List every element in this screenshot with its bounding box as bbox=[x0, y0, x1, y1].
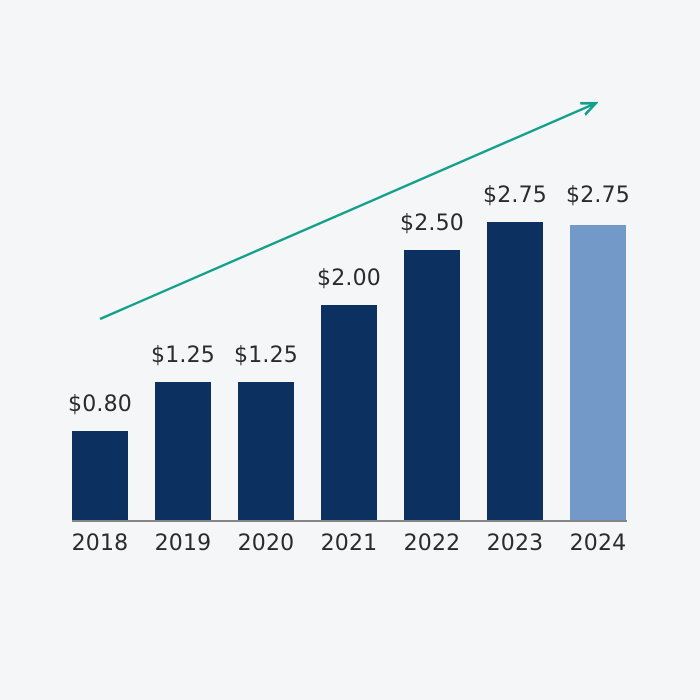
value-label-2023: $2.75 bbox=[475, 183, 555, 208]
value-label-2020: $1.25 bbox=[226, 343, 306, 368]
bar-2020[interactable] bbox=[238, 382, 294, 520]
x-axis-label-2018: 2018 bbox=[60, 531, 140, 556]
bar-chart: $0.80 $1.25 $1.25 $2.00 $2.50 $2.75 $2.7… bbox=[0, 0, 700, 700]
value-label-2024: $2.75 bbox=[558, 183, 638, 208]
axis-baseline bbox=[72, 520, 627, 522]
x-axis-label-2019: 2019 bbox=[143, 531, 223, 556]
x-axis-label-2020: 2020 bbox=[226, 531, 306, 556]
value-label-2022: $2.50 bbox=[392, 211, 472, 236]
bar-2024[interactable] bbox=[570, 225, 626, 520]
bar-2023[interactable] bbox=[487, 222, 543, 520]
x-axis-label-2022: 2022 bbox=[392, 531, 472, 556]
value-label-2019: $1.25 bbox=[143, 343, 223, 368]
x-axis-label-2023: 2023 bbox=[475, 531, 555, 556]
value-label-2018: $0.80 bbox=[60, 392, 140, 417]
bar-2019[interactable] bbox=[155, 382, 211, 520]
x-axis-label-2021: 2021 bbox=[309, 531, 389, 556]
value-label-2021: $2.00 bbox=[309, 266, 389, 291]
bar-2022[interactable] bbox=[404, 250, 460, 520]
x-axis-label-2024: 2024 bbox=[558, 531, 638, 556]
bar-2021[interactable] bbox=[321, 305, 377, 520]
bar-2018[interactable] bbox=[72, 431, 128, 520]
